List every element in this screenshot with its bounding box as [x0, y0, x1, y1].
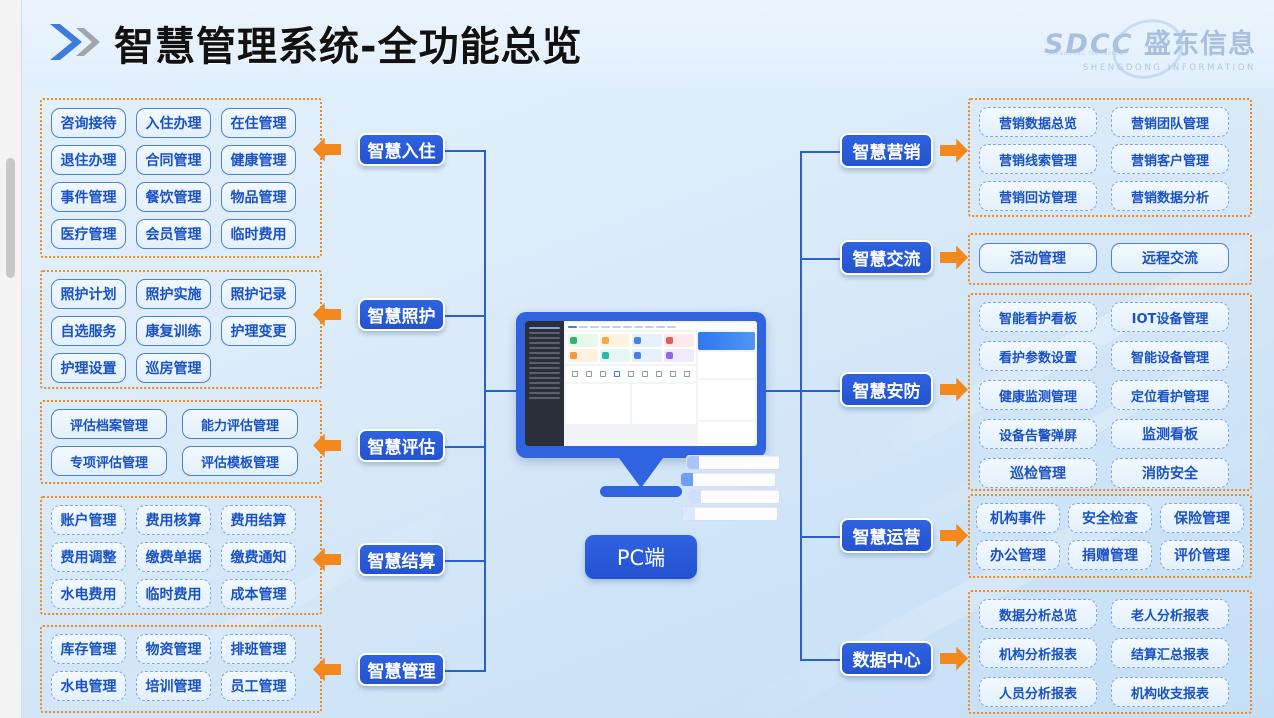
connector-spine-left: [484, 150, 486, 670]
category-button-left-2[interactable]: 智慧照护: [358, 298, 445, 331]
category-button-label: 智慧营销: [853, 138, 921, 163]
category-button-right-5[interactable]: 数据中心: [840, 641, 933, 676]
feature-chip[interactable]: 医疗管理: [51, 219, 126, 249]
arrow-right-icon: [940, 246, 968, 270]
feature-chip-label: 专项评估管理: [70, 452, 148, 471]
feature-chip[interactable]: 员工管理: [221, 671, 296, 701]
feature-chip-label: 监测看板: [1142, 424, 1198, 444]
feature-chip[interactable]: 水电管理: [51, 671, 126, 701]
desktop-monitor-icon: [516, 312, 766, 458]
feature-chip-label: 事件管理: [61, 187, 117, 207]
feature-chip-label: 临时费用: [146, 584, 202, 604]
feature-chip[interactable]: 康复训练: [136, 316, 211, 346]
feature-chip[interactable]: 营销回访管理: [979, 181, 1097, 211]
feature-chip-label: 物资管理: [146, 639, 202, 659]
feature-chip-label: 营销数据分析: [1131, 187, 1209, 206]
feature-chip-label: 费用核算: [146, 510, 202, 530]
connector-branch-left-5: [445, 670, 486, 672]
feature-chip-label: 费用结算: [231, 510, 287, 530]
feature-chip-label: 数据分析总览: [999, 605, 1077, 624]
arrow-right-icon: [940, 647, 968, 671]
feature-chip-label: 营销客户管理: [1131, 150, 1209, 169]
monitor-stand-neck: [619, 458, 663, 488]
category-button-left-4[interactable]: 智慧结算: [358, 543, 445, 576]
category-button-right-2[interactable]: 智慧交流: [840, 240, 933, 275]
feature-chip-label: 老人分析报表: [1131, 605, 1209, 624]
connector-branch-left-4: [445, 560, 486, 562]
feature-chip-label: 巡房管理: [146, 358, 202, 378]
double-chevron-right-icon: [46, 18, 108, 66]
category-button-label: 智慧管理: [368, 657, 436, 682]
feature-chip[interactable]: 咨询接待: [51, 108, 126, 138]
feature-chip-label: 临时费用: [231, 224, 287, 244]
feature-chip[interactable]: 巡检管理: [979, 458, 1097, 488]
category-button-label: 智慧评估: [368, 433, 436, 458]
feature-chip[interactable]: 物资管理: [136, 634, 211, 664]
feature-chip-label: 员工管理: [231, 676, 287, 696]
category-button-right-1[interactable]: 智慧营销: [840, 133, 933, 168]
feature-chip-label: 护理设置: [61, 358, 117, 378]
feature-chip[interactable]: 照护实施: [136, 279, 211, 309]
feature-chip-label: 远程交流: [1142, 248, 1198, 268]
feature-chip-label: 餐饮管理: [146, 187, 202, 207]
feature-chip-label: 营销团队管理: [1131, 113, 1209, 132]
feature-chip[interactable]: 营销线索管理: [979, 144, 1097, 174]
feature-chip[interactable]: 培训管理: [136, 671, 211, 701]
connector-branch-left-2: [445, 315, 486, 317]
feature-chip[interactable]: 会员管理: [136, 219, 211, 249]
feature-chip-label: 人员分析报表: [999, 683, 1077, 702]
connector-branch-right-3: [800, 390, 840, 392]
category-button-right-4[interactable]: 智慧运营: [840, 518, 933, 553]
category-button-label: 智慧入住: [368, 137, 436, 162]
category-button-label: 智慧安防: [853, 377, 921, 402]
feature-chip[interactable]: 看护参数设置: [979, 341, 1097, 371]
feature-chip[interactable]: 评估模板管理: [182, 446, 298, 476]
category-button-label: 智慧交流: [853, 245, 921, 270]
feature-chip[interactable]: 健康管理: [221, 145, 296, 175]
brand-logo: SDCC 盛东信息 SHENGDONG INFORMATION SHENGDON…: [1020, 22, 1256, 78]
feature-chip[interactable]: 定位看护管理: [1111, 380, 1229, 410]
page-title: 智慧管理系统-全功能总览: [114, 14, 583, 72]
connector-branch-left-1: [445, 150, 486, 152]
category-button-label: 智慧照护: [368, 302, 436, 327]
feature-chip[interactable]: 照护计划: [51, 279, 126, 309]
feature-chip[interactable]: 营销数据总览: [979, 107, 1097, 137]
category-button-label: 数据中心: [853, 646, 921, 671]
connector-spine-right: [800, 151, 802, 659]
feature-chip-label: 机构分析报表: [999, 644, 1077, 663]
feature-chip[interactable]: 营销数据分析: [1111, 181, 1229, 211]
feature-chip[interactable]: 排班管理: [221, 634, 296, 664]
feature-chip[interactable]: 安全检查: [1068, 503, 1152, 533]
feature-chip[interactable]: 机构分析报表: [979, 638, 1097, 668]
feature-chip-label: 结算汇总报表: [1131, 644, 1209, 663]
feature-chip-label: 水电管理: [61, 676, 117, 696]
connector-hub-right: [766, 390, 802, 392]
feature-chip[interactable]: 办公管理: [976, 540, 1060, 570]
feature-chip[interactable]: 费用结算: [221, 505, 296, 535]
connector-branch-right-1: [800, 151, 840, 153]
feature-chip[interactable]: 远程交流: [1111, 243, 1229, 273]
feature-chip-label: 照护实施: [146, 284, 202, 304]
feature-chip-label: 账户管理: [61, 510, 117, 530]
page-header: 智慧管理系统-全功能总览 SDCC 盛东信息 SHENGDONG INFORMA…: [22, 0, 1274, 88]
feature-chip-label: 办公管理: [990, 545, 1046, 565]
feature-chip-label: IOT设备管理: [1132, 308, 1209, 327]
arrow-right-icon: [940, 139, 968, 163]
feature-chip-label: 消防安全: [1142, 463, 1198, 483]
feature-chip[interactable]: 活动管理: [979, 243, 1097, 273]
feature-chip[interactable]: 结算汇总报表: [1111, 638, 1229, 668]
feature-chip-label: 库存管理: [61, 639, 117, 659]
feature-chip-label: 入住办理: [146, 113, 202, 133]
feature-chip[interactable]: 临时费用: [136, 579, 211, 609]
feature-chip-label: 照护计划: [61, 284, 117, 304]
feature-chip-label: 缴费通知: [231, 547, 287, 567]
feature-chip[interactable]: 水电费用: [51, 579, 126, 609]
feature-chip[interactable]: 护理变更: [221, 316, 296, 346]
feature-chip[interactable]: 库存管理: [51, 634, 126, 664]
category-button-left-3[interactable]: 智慧评估: [358, 429, 445, 462]
feature-chip[interactable]: 巡房管理: [136, 353, 211, 383]
feature-chip[interactable]: 事件管理: [51, 182, 126, 212]
page-scrollbar[interactable]: [0, 0, 22, 718]
feature-chip-label: 设备告警弹屏: [999, 425, 1077, 444]
feature-chip[interactable]: 健康监测管理: [979, 380, 1097, 410]
feature-chip[interactable]: 缴费单据: [136, 542, 211, 572]
feature-chip[interactable]: 智能设备管理: [1111, 341, 1229, 371]
feature-chip[interactable]: 退住办理: [51, 145, 126, 175]
feature-chip-label: 机构收支报表: [1131, 683, 1209, 702]
feature-chip[interactable]: 自选服务: [51, 316, 126, 346]
arrow-right-icon: [940, 378, 968, 402]
feature-chip-label: 缴费单据: [146, 547, 202, 567]
category-button-label: 智慧结算: [368, 547, 436, 572]
connector-branch-left-3: [445, 446, 486, 448]
feature-chip[interactable]: 设备告警弹屏: [979, 419, 1097, 449]
scrollbar-thumb[interactable]: [6, 158, 15, 278]
feature-chip[interactable]: 成本管理: [221, 579, 296, 609]
feature-chip[interactable]: 营销团队管理: [1111, 107, 1229, 137]
feature-chip[interactable]: 照护记录: [221, 279, 296, 309]
book-stack-icon: [680, 455, 780, 523]
feature-chip-label: 营销线索管理: [999, 150, 1077, 169]
feature-chip-label: 医疗管理: [61, 224, 117, 244]
feature-chip[interactable]: 在住管理: [221, 108, 296, 138]
feature-chip[interactable]: 营销客户管理: [1111, 144, 1229, 174]
feature-chip-label: 评估模板管理: [201, 452, 279, 471]
feature-chip-label: 成本管理: [231, 584, 287, 604]
feature-chip-label: 能力评估管理: [201, 415, 279, 434]
feature-chip-label: 活动管理: [1010, 248, 1066, 268]
feature-chip[interactable]: 缴费通知: [221, 542, 296, 572]
connector-branch-right-2: [800, 258, 840, 260]
feature-chip[interactable]: 费用调整: [51, 542, 126, 572]
feature-chip[interactable]: 捐赠管理: [1068, 540, 1152, 570]
feature-chip[interactable]: 专项评估管理: [51, 446, 167, 476]
feature-chip-label: 智能看护看板: [999, 308, 1077, 327]
feature-chip-label: 安全检查: [1082, 508, 1138, 528]
feature-chip[interactable]: 老人分析报表: [1111, 599, 1229, 629]
dashboard-screenshot: [525, 321, 757, 446]
feature-chip-label: 会员管理: [146, 224, 202, 244]
feature-chip-label: 照护记录: [231, 284, 287, 304]
feature-chip-label: 费用调整: [61, 547, 117, 567]
feature-chip[interactable]: 合同管理: [136, 145, 211, 175]
feature-chip[interactable]: 机构收支报表: [1111, 677, 1229, 707]
monitor-stand-base: [600, 486, 682, 497]
connector-branch-right-5: [800, 659, 840, 661]
pc-endpoint-label: PC端: [585, 535, 697, 579]
category-button-right-3[interactable]: 智慧安防: [840, 372, 933, 407]
feature-chip[interactable]: 物品管理: [221, 182, 296, 212]
arrow-right-icon: [940, 524, 968, 548]
connector-branch-right-4: [800, 536, 840, 538]
feature-chip[interactable]: 评价管理: [1160, 540, 1244, 570]
feature-chip-label: 营销数据总览: [999, 113, 1077, 132]
feature-chip[interactable]: 保险管理: [1160, 503, 1244, 533]
category-button-left-5[interactable]: 智慧管理: [358, 653, 445, 686]
feature-chip-label: 在住管理: [231, 113, 287, 133]
feature-chip[interactable]: 临时费用: [221, 219, 296, 249]
category-button-left-1[interactable]: 智慧入住: [358, 133, 445, 166]
feature-chip-label: 智能设备管理: [1131, 347, 1209, 366]
feature-chip[interactable]: 机构事件: [976, 503, 1060, 533]
feature-chip-label: 康复训练: [146, 321, 202, 341]
feature-chip-label: 排班管理: [231, 639, 287, 659]
feature-chip-label: 健康管理: [231, 150, 287, 170]
logo-tagline: SHENGDONG TECHNOLOGY: [1048, 52, 1127, 57]
feature-chip[interactable]: 监测看板: [1111, 419, 1229, 449]
feature-chip[interactable]: 餐饮管理: [136, 182, 211, 212]
feature-chip-label: 评价管理: [1174, 545, 1230, 565]
feature-chip[interactable]: 人员分析报表: [979, 677, 1097, 707]
feature-chip-label: 培训管理: [146, 676, 202, 696]
feature-chip-label: 咨询接待: [61, 113, 117, 133]
feature-chip-label: 定位看护管理: [1131, 386, 1209, 405]
feature-chip-label: 巡检管理: [1010, 463, 1066, 483]
feature-chip[interactable]: 智能看护看板: [979, 302, 1097, 332]
feature-chip-label: 退住办理: [61, 150, 117, 170]
feature-chip[interactable]: 护理设置: [51, 353, 126, 383]
feature-chip-label: 捐赠管理: [1082, 545, 1138, 565]
feature-chip[interactable]: 费用核算: [136, 505, 211, 535]
feature-chip-label: 自选服务: [61, 321, 117, 341]
feature-chip-label: 合同管理: [146, 150, 202, 170]
feature-chip-label: 健康监测管理: [999, 386, 1077, 405]
feature-chip[interactable]: 数据分析总览: [979, 599, 1097, 629]
feature-chip[interactable]: 消防安全: [1111, 458, 1229, 488]
connector-hub-left: [484, 390, 518, 392]
feature-chip-label: 物品管理: [231, 187, 287, 207]
category-button-label: 智慧运营: [853, 523, 921, 548]
feature-chip-label: 护理变更: [231, 321, 287, 341]
feature-chip[interactable]: 评估档案管理: [51, 409, 167, 439]
feature-chip-label: 机构事件: [990, 508, 1046, 528]
feature-chip[interactable]: IOT设备管理: [1111, 302, 1229, 332]
feature-chip-label: 保险管理: [1174, 508, 1230, 528]
feature-chip-label: 营销回访管理: [999, 187, 1077, 206]
feature-chip[interactable]: 入住办理: [136, 108, 211, 138]
feature-chip-label: 看护参数设置: [999, 347, 1077, 366]
feature-chip-label: 评估档案管理: [70, 415, 148, 434]
feature-chip[interactable]: 账户管理: [51, 505, 126, 535]
feature-chip-label: 水电费用: [61, 584, 117, 604]
feature-chip[interactable]: 能力评估管理: [182, 409, 298, 439]
